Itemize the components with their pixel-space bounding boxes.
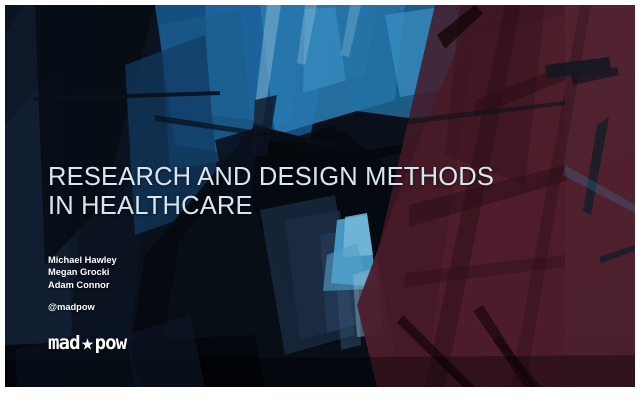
list-item: Michael Hawley: [48, 254, 508, 266]
logo-word-pow: pow: [95, 334, 127, 353]
list-item: Adam Connor: [48, 279, 508, 291]
star-icon: [81, 338, 94, 351]
list-item: Megan Grocki: [48, 266, 508, 278]
page-canvas: RESEARCH AND DESIGN METHODS IN HEALTHCAR…: [0, 0, 640, 400]
social-handle: @madpow: [48, 302, 508, 312]
page-title: RESEARCH AND DESIGN METHODS IN HEALTHCAR…: [48, 163, 508, 221]
logo-word-mad: mad: [48, 334, 80, 353]
presentation-slide: RESEARCH AND DESIGN METHODS IN HEALTHCAR…: [5, 5, 635, 387]
madpow-logo: mad pow: [48, 332, 508, 354]
title-and-byline-block: RESEARCH AND DESIGN METHODS IN HEALTHCAR…: [48, 163, 508, 354]
author-list: Michael Hawley Megan Grocki Adam Connor: [48, 254, 508, 291]
